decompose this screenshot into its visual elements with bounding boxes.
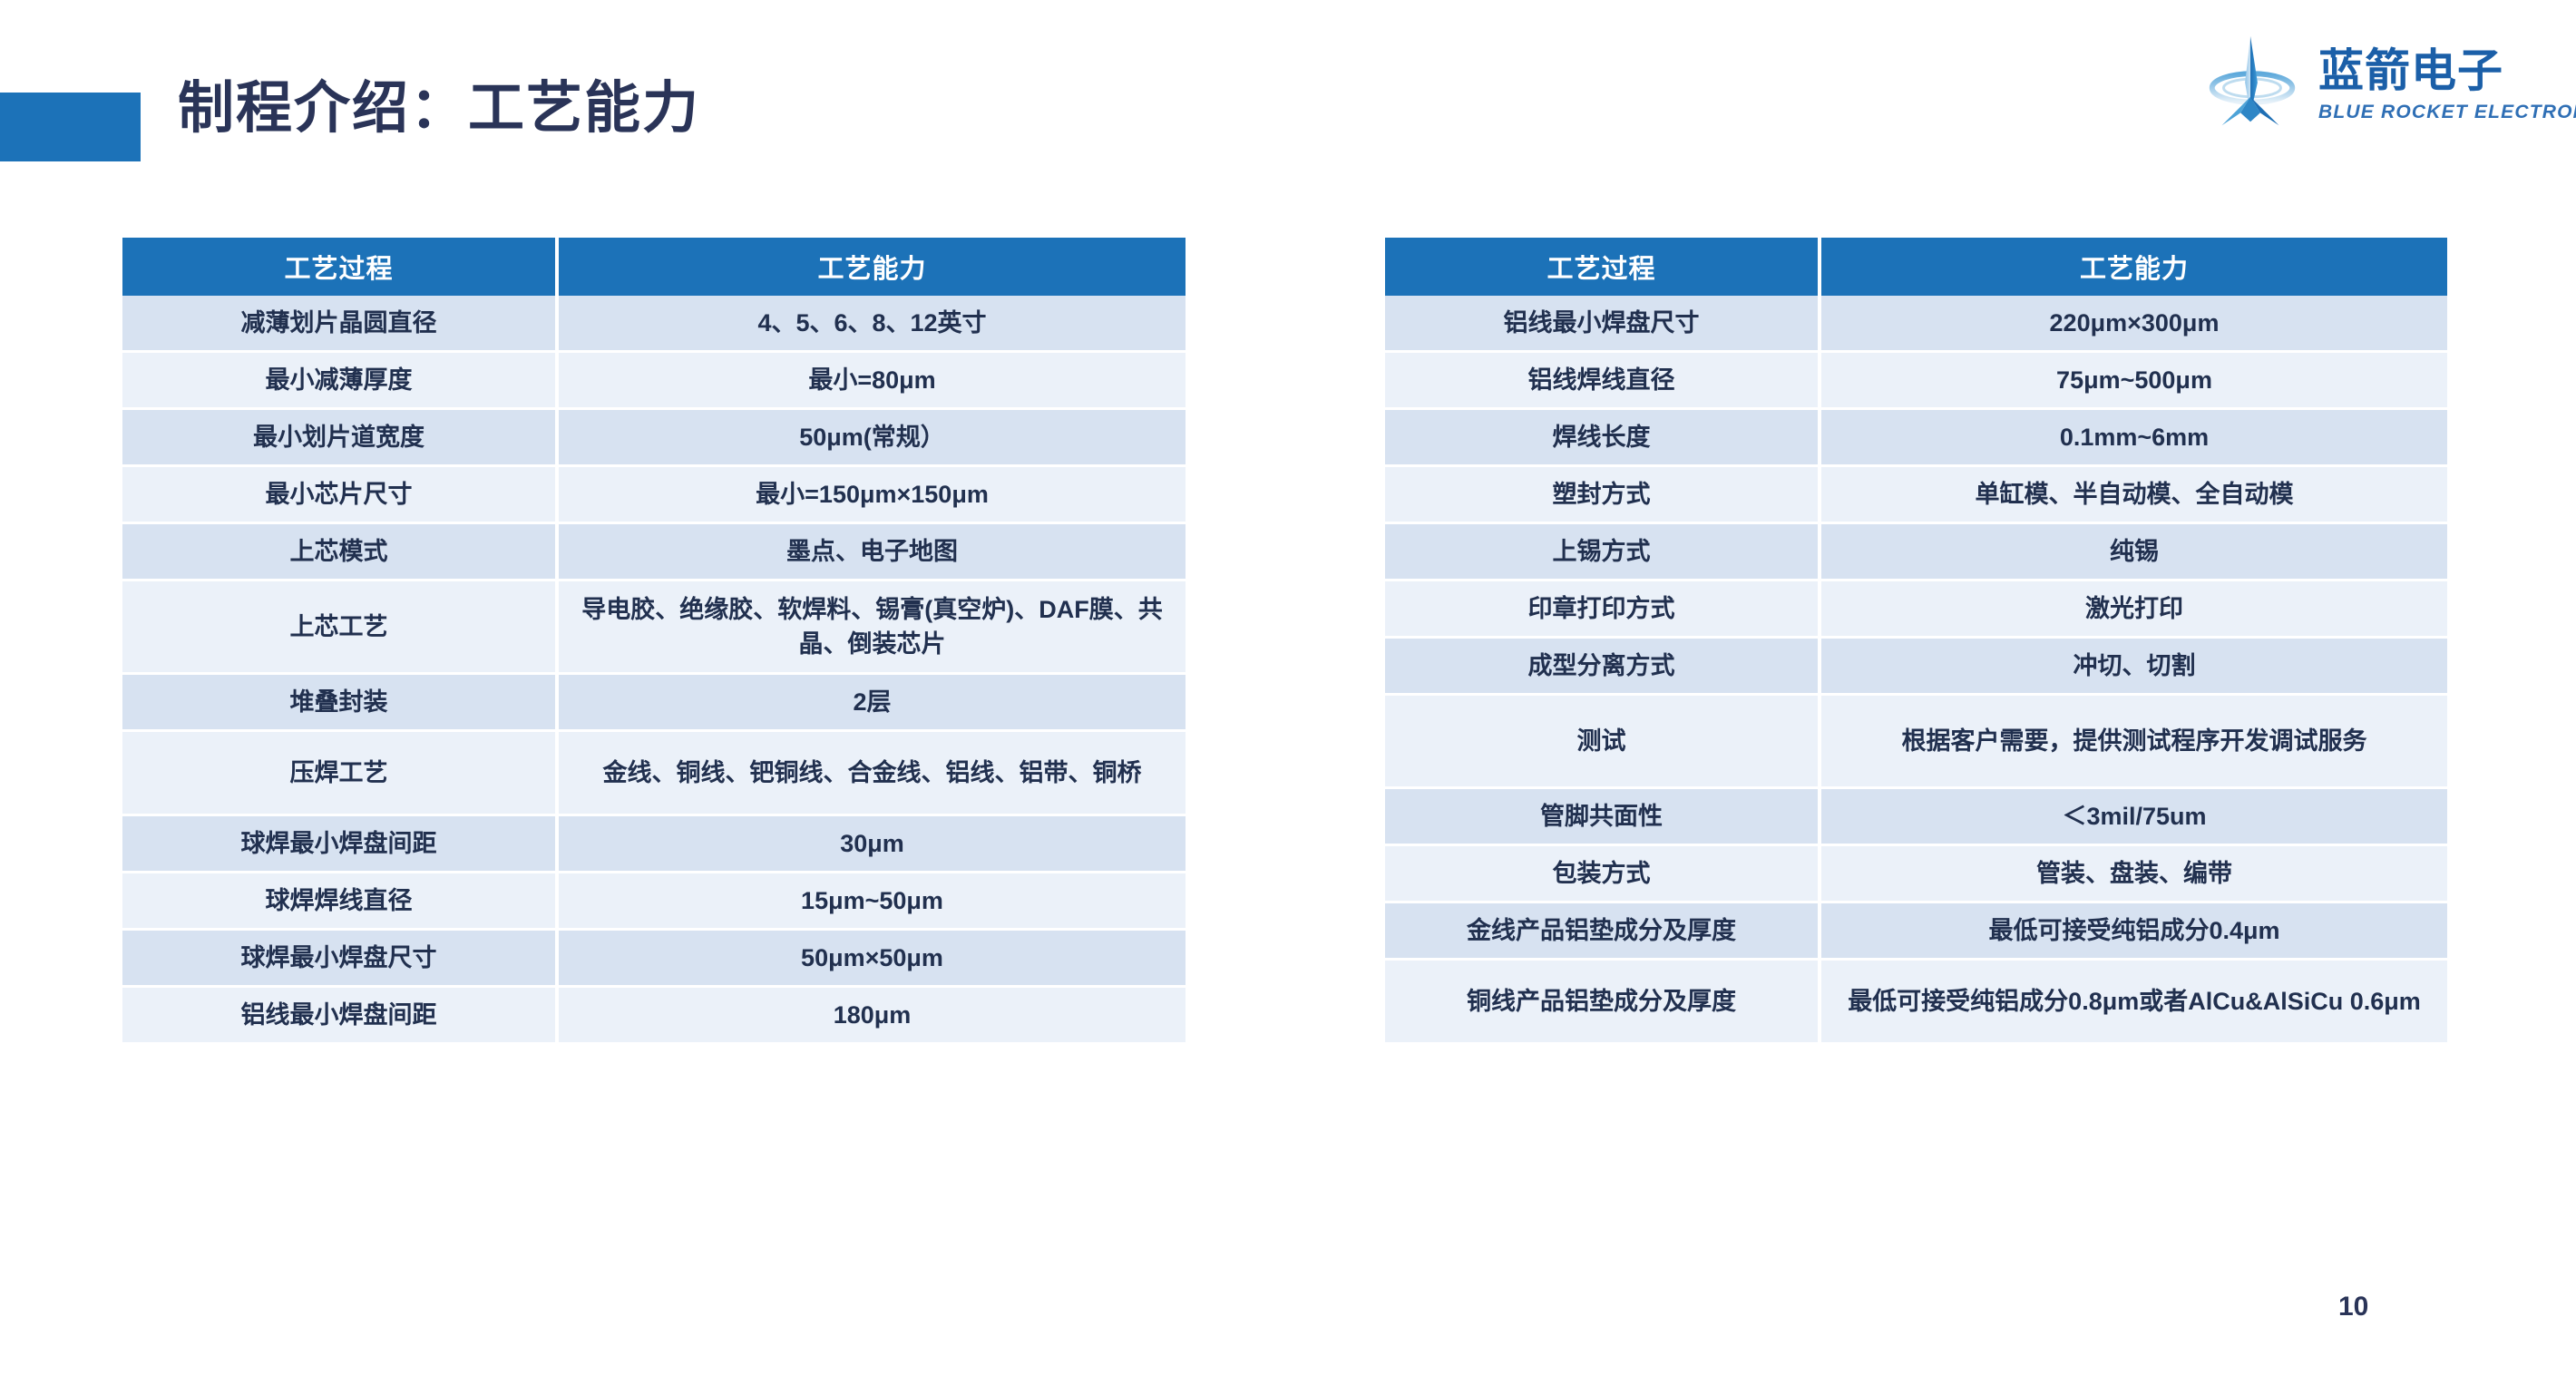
table-row: 最小减薄厚度最小=80μm [122,353,1186,410]
table-row: 测试根据客户需要，提供测试程序开发调试服务 [1385,696,2447,789]
table-row: 塑封方式单缸模、半自动模、全自动模 [1385,467,2447,524]
cell-capability: 0.1mm~6mm [1821,410,2447,464]
table-row: 球焊最小焊盘尺寸50μm×50μm [122,931,1186,988]
cell-process: 球焊最小焊盘间距 [122,816,555,871]
cell-process: 印章打印方式 [1385,581,1818,636]
table-row: 印章打印方式激光打印 [1385,581,2447,639]
table-body: 减薄划片晶圆直径4、5、6、8、12英寸最小减薄厚度最小=80μm最小划片道宽度… [122,296,1186,1045]
cell-capability: ＜3mil/75um [1821,789,2447,844]
cell-process: 铜线产品铝垫成分及厚度 [1385,961,1818,1042]
table-row: 最小划片道宽度50μm(常规） [122,410,1186,467]
table-row: 减薄划片晶圆直径4、5、6、8、12英寸 [122,296,1186,353]
slide-header: 制程介绍：工艺能力 [0,0,2576,181]
table-row: 金线产品铝垫成分及厚度最低可接受纯铝成分0.4μm [1385,903,2447,961]
cell-process: 球焊最小焊盘尺寸 [122,931,555,985]
company-logo: 蓝箭电子 BLUE ROCKET ELECTRONICS [2199,27,2536,138]
cell-process: 塑封方式 [1385,467,1818,522]
cell-capability: 50μm(常规） [559,410,1186,464]
column-header-capability: 工艺能力 [559,238,1186,296]
table-row: 成型分离方式冲切、切割 [1385,639,2447,696]
cell-process: 最小减薄厚度 [122,353,555,407]
page-number: 10 [2338,1292,2368,1322]
table-row: 包装方式管装、盘装、编带 [1385,846,2447,903]
cell-process: 堆叠封装 [122,675,555,729]
cell-capability: 单缸模、半自动模、全自动模 [1821,467,2447,522]
cell-process: 压焊工艺 [122,732,555,814]
cell-process: 铝线最小焊盘尺寸 [1385,296,1818,350]
cell-process: 包装方式 [1385,846,1818,901]
cell-process: 铝线焊线直径 [1385,353,1818,407]
table-row: 上芯工艺导电胶、绝缘胶、软焊料、锡膏(真空炉)、DAF膜、共晶、倒装芯片 [122,581,1186,675]
cell-process: 铝线最小焊盘间距 [122,988,555,1042]
cell-capability: 金线、铜线、钯铜线、合金线、铝线、铝带、铜桥 [559,732,1186,814]
table-row: 压焊工艺金线、铜线、钯铜线、合金线、铝线、铝带、铜桥 [122,732,1186,816]
cell-capability: 最低可接受纯铝成分0.4μm [1821,903,2447,958]
cell-capability: 4、5、6、8、12英寸 [559,296,1186,350]
logo-wordmark: 蓝箭电子 BLUE ROCKET ELECTRONICS [2318,40,2576,125]
cell-capability: 激光打印 [1821,581,2447,636]
cell-capability: 180μm [559,988,1186,1042]
cell-capability: 15μm~50μm [559,873,1186,928]
table-row: 焊线长度0.1mm~6mm [1385,410,2447,467]
cell-process: 上芯模式 [122,524,555,579]
cell-process: 焊线长度 [1385,410,1818,464]
cell-capability: 75μm~500μm [1821,353,2447,407]
table-row: 球焊最小焊盘间距30μm [122,816,1186,873]
cell-process: 最小芯片尺寸 [122,467,555,522]
table-row: 最小芯片尺寸最小=150μm×150μm [122,467,1186,524]
cell-process: 管脚共面性 [1385,789,1818,844]
cell-capability: 最小=150μm×150μm [559,467,1186,522]
cell-process: 最小划片道宽度 [122,410,555,464]
cell-capability: 最低可接受纯铝成分0.8μm或者AlCu&AlSiCu 0.6μm [1821,961,2447,1042]
column-header-process: 工艺过程 [122,238,555,296]
table-row: 铝线焊线直径75μm~500μm [1385,353,2447,410]
cell-capability: 220μm×300μm [1821,296,2447,350]
cell-capability: 根据客户需要，提供测试程序开发调试服务 [1821,696,2447,786]
table-row: 堆叠封装2层 [122,675,1186,732]
cell-capability: 管装、盘装、编带 [1821,846,2447,901]
cell-capability: 2层 [559,675,1186,729]
cell-process: 测试 [1385,696,1818,786]
cell-capability: 墨点、电子地图 [559,524,1186,579]
cell-process: 成型分离方式 [1385,639,1818,693]
cell-process: 上锡方式 [1385,524,1818,579]
cell-process: 减薄划片晶圆直径 [122,296,555,350]
rocket-star-emblem-icon [2199,29,2306,136]
table-row: 上锡方式纯锡 [1385,524,2447,581]
table-body: 铝线最小焊盘尺寸220μm×300μm铝线焊线直径75μm~500μm焊线长度0… [1385,296,2447,1045]
table-row: 铜线产品铝垫成分及厚度最低可接受纯铝成分0.8μm或者AlCu&AlSiCu 0… [1385,961,2447,1045]
table-row: 球焊焊线直径15μm~50μm [122,873,1186,931]
table-row: 铝线最小焊盘间距180μm [122,988,1186,1045]
cell-capability: 最小=80μm [559,353,1186,407]
table-row: 铝线最小焊盘尺寸220μm×300μm [1385,296,2447,353]
cell-process: 金线产品铝垫成分及厚度 [1385,903,1818,958]
process-capability-table-left: 工艺过程 工艺能力 减薄划片晶圆直径4、5、6、8、12英寸最小减薄厚度最小=8… [122,238,1186,1045]
cell-process: 上芯工艺 [122,581,555,672]
column-header-capability: 工艺能力 [1821,238,2447,296]
table-header-row: 工艺过程 工艺能力 [1385,238,2447,296]
table-row: 管脚共面性＜3mil/75um [1385,789,2447,846]
logo-name-en: BLUE ROCKET ELECTRONICS [2318,99,2576,125]
process-capability-table-right: 工艺过程 工艺能力 铝线最小焊盘尺寸220μm×300μm铝线焊线直径75μm~… [1385,238,2447,1045]
logo-name-cn: 蓝箭电子 [2318,47,2576,95]
title-accent-bar [0,93,141,161]
cell-capability: 冲切、切割 [1821,639,2447,693]
cell-capability: 纯锡 [1821,524,2447,579]
cell-capability: 50μm×50μm [559,931,1186,985]
table-row: 上芯模式墨点、电子地图 [122,524,1186,581]
cell-process: 球焊焊线直径 [122,873,555,928]
cell-capability: 导电胶、绝缘胶、软焊料、锡膏(真空炉)、DAF膜、共晶、倒装芯片 [559,581,1186,672]
page-title: 制程介绍：工艺能力 [178,76,700,141]
cell-capability: 30μm [559,816,1186,871]
column-header-process: 工艺过程 [1385,238,1818,296]
table-header-row: 工艺过程 工艺能力 [122,238,1186,296]
